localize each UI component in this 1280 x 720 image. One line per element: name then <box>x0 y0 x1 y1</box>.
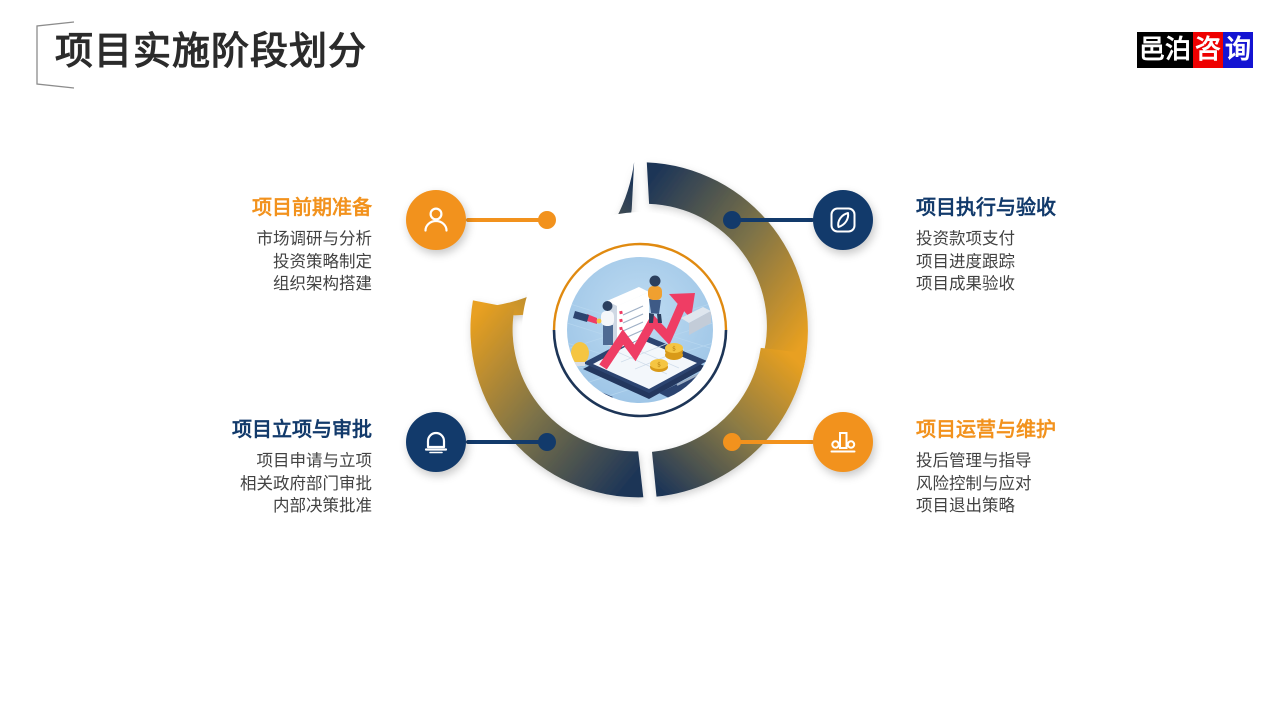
connector-dot-top-right <box>723 211 741 229</box>
phase-operation-title: 项目运营与维护 <box>916 417 1176 443</box>
connector-dot-top-left <box>538 211 556 229</box>
logo-segment-black: 邑泊 <box>1137 32 1193 68</box>
phase-approval-title: 项目立项与审批 <box>120 417 372 443</box>
logo-segment-red: 咨 <box>1193 32 1223 68</box>
list-item: 相关政府部门审批 <box>120 473 372 496</box>
svg-text:$: $ <box>657 362 661 369</box>
phase-preparation-items: 市场调研与分析 投资策略制定 组织架构搭建 <box>120 228 372 296</box>
phase-execution-items: 投资款项支付 项目进度跟踪 项目成果验收 <box>916 228 1176 296</box>
phase-operation-items: 投后管理与指导 风险控制与应对 项目退出策略 <box>916 450 1176 518</box>
list-item: 项目成果验收 <box>916 273 1176 296</box>
list-item: 内部决策批准 <box>120 495 372 518</box>
phase-execution-icon-button[interactable] <box>813 190 873 250</box>
phase-approval-items: 项目申请与立项 相关政府部门审批 内部决策批准 <box>120 450 372 518</box>
page-title: 项目实施阶段划分 <box>55 26 367 78</box>
list-item: 投资策略制定 <box>120 251 372 274</box>
phase-donut-diagram: $ $ <box>463 153 817 507</box>
phase-preparation-block: 项目前期准备 市场调研与分析 投资策略制定 组织架构搭建 <box>120 195 372 296</box>
list-item: 市场调研与分析 <box>120 228 372 251</box>
list-item: 组织架构搭建 <box>120 273 372 296</box>
bell-icon <box>419 425 453 459</box>
connector-dot-bottom-left <box>538 433 556 451</box>
connector-bottom-right <box>730 440 814 444</box>
phase-preparation-icon-button[interactable] <box>406 190 466 250</box>
list-item: 项目退出策略 <box>916 495 1176 518</box>
edit-pen-icon <box>826 203 860 237</box>
connector-dot-bottom-right <box>723 433 741 451</box>
bar-chart-icon <box>826 425 860 459</box>
list-item: 项目申请与立项 <box>120 450 372 473</box>
phase-approval-block: 项目立项与审批 项目申请与立项 相关政府部门审批 内部决策批准 <box>120 417 372 518</box>
list-item: 投资款项支付 <box>916 228 1176 251</box>
user-icon <box>419 203 453 237</box>
phase-operation-block: 项目运营与维护 投后管理与指导 风险控制与应对 项目退出策略 <box>916 417 1176 518</box>
connector-top-right <box>730 218 814 222</box>
logo-segment-blue: 询 <box>1223 32 1253 68</box>
phase-execution-title: 项目执行与验收 <box>916 195 1176 221</box>
list-item: 风险控制与应对 <box>916 473 1176 496</box>
phase-operation-icon-button[interactable] <box>813 412 873 472</box>
page-header: 项目实施阶段划分 邑泊 咨 询 <box>0 0 1280 110</box>
phase-execution-block: 项目执行与验收 投资款项支付 项目进度跟踪 项目成果验收 <box>916 195 1176 296</box>
phase-preparation-title: 项目前期准备 <box>120 195 372 221</box>
list-item: 项目进度跟踪 <box>916 251 1176 274</box>
list-item: 投后管理与指导 <box>916 450 1176 473</box>
brand-logo: 邑泊 咨 询 <box>1137 32 1253 68</box>
svg-text:$: $ <box>672 346 676 353</box>
phase-approval-icon-button[interactable] <box>406 412 466 472</box>
